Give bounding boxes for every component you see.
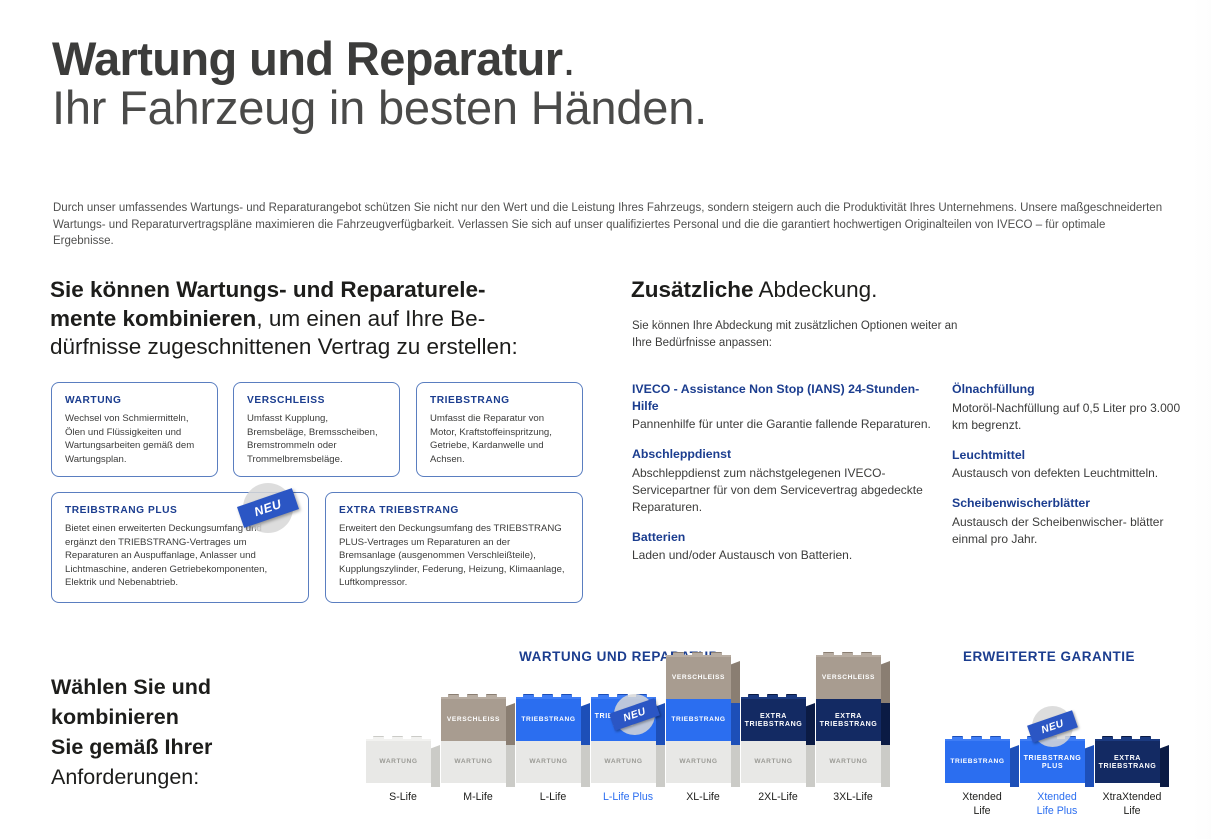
bottom-heading-2: kombinieren (51, 705, 179, 729)
battery-segment: TRIEBSTRANG (666, 699, 731, 741)
hero-block: Wartung und Reparatur. Ihr Fahrzeug in b… (52, 34, 1152, 132)
neu-badge-chart-xtendedplus: NEU (1032, 706, 1078, 752)
battery-segment: EXTRATRIEBSTRANG (741, 699, 806, 741)
battery-block[interactable]: WARTUNGEXTRATRIEBSTRANGVERSCHLEISS (816, 657, 881, 783)
battery-segment-label: WARTUNG (754, 758, 792, 767)
battery-segment-label: WARTUNG (379, 758, 417, 767)
battery-block[interactable]: TRIEBSTRANG (945, 741, 1010, 783)
battery-segment-side (656, 745, 665, 787)
coverage-option[interactable]: Scheibenwischerblätter Austausch der Sch… (952, 495, 1182, 548)
battery-segment: WARTUNG (666, 741, 731, 783)
battery-segment-side (881, 703, 890, 745)
battery-segment: VERSCHLEISS (441, 699, 506, 741)
left-column-heading: Sie können Wartungs- und Reparaturele- m… (50, 276, 610, 362)
coverage-options-column-1: IVECO - Assistance Non Stop (IANS) 24-St… (632, 381, 932, 577)
info-box-verschleiss[interactable]: VERSCHLEISS Umfasst Kupplung, Bremsbeläg… (233, 382, 400, 477)
intro-paragraph: Durch unser umfassendes Wartungs- und Re… (53, 200, 1163, 250)
battery-segment: TRIEBSTRANG (516, 699, 581, 741)
battery-segment-label: WARTUNG (679, 758, 717, 767)
page-title-dot: . (562, 32, 575, 85)
page-title-bold: Wartung und Reparatur (52, 32, 562, 85)
info-box-wartung[interactable]: WARTUNG Wechsel von Schmiermitteln, Ölen… (51, 382, 218, 477)
info-box-body: Umfasst Kupplung, Bremsbeläge, Bremssche… (247, 412, 386, 466)
battery-segment-side (881, 745, 890, 787)
battery-segment-label: WARTUNG (454, 758, 492, 767)
coverage-option-title: Leuchtmittel (952, 447, 1182, 464)
battery-segment-side (581, 703, 590, 745)
coverage-option[interactable]: Ölnachfüllung Motoröl-Nachfüllung auf 0,… (952, 381, 1182, 434)
page-subtitle: Ihr Fahrzeug in besten Händen. (52, 83, 1152, 132)
right-column-heading: Zusätzliche Abdeckung. (631, 276, 1051, 303)
coverage-option[interactable]: Leuchtmittel Austausch von defekten Leuc… (952, 447, 1182, 483)
neu-badge: NEU (243, 483, 299, 539)
coverage-option[interactable]: IVECO - Assistance Non Stop (IANS) 24-St… (632, 381, 932, 433)
coverage-option-title: Batterien (632, 529, 932, 546)
right-heading-light: Abdeckung. (754, 277, 878, 302)
battery-block-label: XtraXtendedLife (1083, 790, 1181, 818)
info-box-title: VERSCHLEISS (247, 395, 386, 406)
battery-segment-side (506, 703, 515, 745)
battery-segment-label: VERSCHLEISS (822, 674, 875, 683)
battery-segment-side (806, 703, 815, 745)
coverage-option-title: Ölnachfüllung (952, 381, 1182, 398)
right-column-subtext: Sie können Ihre Abdeckung mit zusätzlich… (632, 318, 977, 352)
battery-segment-label: TRIEBSTRANGPLUS (1024, 754, 1082, 771)
battery-segment: WARTUNG (741, 741, 806, 783)
battery-block[interactable]: WARTUNG (366, 741, 431, 783)
coverage-option[interactable]: Abschleppdienst Abschleppdienst zum näch… (632, 446, 932, 516)
info-box-triebstrang[interactable]: TRIEBSTRANG Umfasst die Reparatur von Mo… (416, 382, 583, 477)
battery-segment: VERSCHLEISS (666, 657, 731, 699)
battery-segment: WARTUNG (816, 741, 881, 783)
chart-title-wartung-reparatur: WARTUNG UND REPARATUR (404, 649, 834, 664)
bottom-heading-3: Sie gemäß Ihrer (51, 735, 212, 759)
coverage-option-title: IVECO - Assistance Non Stop (IANS) 24-St… (632, 381, 932, 414)
battery-segment-side (506, 745, 515, 787)
info-box-body: Umfasst die Reparatur von Motor, Kraftst… (430, 412, 569, 466)
info-box-body: Wechsel von Schmiermitteln, Ölen und Flü… (65, 412, 204, 466)
info-box-title: TRIEBSTRANG (430, 395, 569, 406)
coverage-option[interactable]: Batterien Laden und/oder Austausch von B… (632, 529, 932, 565)
battery-segment-side (581, 745, 590, 787)
battery-segment: VERSCHLEISS (816, 657, 881, 699)
info-box-title: EXTRA TRIEBSTRANG (339, 505, 569, 516)
info-box-body: Erweitert den Deckungsumfang des TRIEBST… (339, 522, 569, 590)
battery-segment-label: VERSCHLEISS (672, 674, 725, 683)
battery-segment-label: EXTRATRIEBSTRANG (1099, 754, 1157, 771)
right-heading-bold: Zusätzliche (631, 277, 754, 302)
poster-page: Wartung und Reparatur. Ihr Fahrzeug in b… (0, 0, 1211, 839)
coverage-option-desc: Motoröl-Nachfüllung auf 0,5 Liter pro 3.… (952, 400, 1182, 434)
left-heading-light-1: , um einen auf Ihre Be- (256, 306, 485, 331)
battery-segment-side (806, 745, 815, 787)
battery-segment-label: EXTRATRIEBSTRANG (745, 712, 803, 729)
coverage-option-title: Scheibenwischerblätter (952, 495, 1182, 512)
battery-segment-label: WARTUNG (529, 758, 567, 767)
battery-block[interactable]: WARTUNGTRIEBSTRANG (516, 699, 581, 783)
coverage-option-desc: Laden und/oder Austausch von Batterien. (632, 547, 932, 564)
bottom-heading: Wählen Sie und kombinieren Sie gemäß Ihr… (51, 672, 351, 792)
coverage-option-desc: Austausch von defekten Leuchtmitteln. (952, 465, 1182, 482)
info-box-extra-triebstrang[interactable]: EXTRA TRIEBSTRANG Erweitert den Deckungs… (325, 492, 583, 603)
battery-segment-side (1010, 745, 1019, 787)
battery-block[interactable]: WARTUNGVERSCHLEISS (441, 699, 506, 783)
battery-segment: EXTRATRIEBSTRANG (816, 699, 881, 741)
battery-block[interactable]: EXTRATRIEBSTRANG (1095, 741, 1160, 783)
battery-segment: WARTUNG (591, 741, 656, 783)
battery-segment: WARTUNG (441, 741, 506, 783)
page-title: Wartung und Reparatur. Ihr Fahrzeug in b… (52, 34, 1152, 132)
neu-badge-label: NEU (252, 497, 283, 519)
bottom-heading-1: Wählen Sie und (51, 675, 211, 699)
battery-segment-label: EXTRATRIEBSTRANG (820, 712, 878, 729)
battery-segment-side (731, 661, 740, 703)
battery-segment-label: TRIEBSTRANG (521, 716, 575, 725)
right-edge-fade (1193, 0, 1211, 839)
battery-block-label: 3XL-Life (804, 790, 902, 804)
info-box-title: WARTUNG (65, 395, 204, 406)
battery-segment-side (881, 661, 890, 703)
battery-segment: EXTRATRIEBSTRANG (1095, 741, 1160, 783)
battery-segment-side (1160, 745, 1169, 787)
bottom-heading-4: Anforderungen: (51, 765, 199, 789)
battery-block[interactable]: WARTUNGEXTRATRIEBSTRANG (741, 699, 806, 783)
neu-badge-label: NEU (1040, 717, 1066, 735)
neu-badge-label: NEU (622, 705, 648, 723)
coverage-options-column-2: Ölnachfüllung Motoröl-Nachfüllung auf 0,… (952, 381, 1182, 561)
coverage-option-title: Abschleppdienst (632, 446, 932, 463)
battery-segment: WARTUNG (366, 741, 431, 783)
battery-segment-side (431, 745, 440, 787)
battery-segment: TRIEBSTRANG (945, 741, 1010, 783)
neu-badge-chart-llifeplus: NEU (614, 694, 660, 740)
battery-block[interactable]: WARTUNGTRIEBSTRANGVERSCHLEISS (666, 657, 731, 783)
coverage-option-desc: Pannenhilfe für unter die Garantie falle… (632, 416, 932, 433)
battery-segment-label: WARTUNG (829, 758, 867, 767)
battery-segment-side (1085, 745, 1094, 787)
chart-title-erweiterte-garantie: ERWEITERTE GARANTIE (930, 649, 1168, 664)
left-heading-bold-2: mente kombinieren (50, 306, 256, 331)
battery-segment-label: TRIEBSTRANG (671, 716, 725, 725)
battery-segment-side (731, 703, 740, 745)
coverage-option-desc: Abschleppdienst zum nächstgelegenen IVEC… (632, 465, 932, 516)
coverage-option-desc: Austausch der Scheibenwischer- blätter e… (952, 514, 1182, 548)
left-heading-bold-1: Sie können Wartungs- und Reparaturele- (50, 277, 485, 302)
battery-segment-side (731, 745, 740, 787)
battery-segment-label: WARTUNG (604, 758, 642, 767)
battery-segment-label: VERSCHLEISS (447, 716, 500, 725)
battery-segment: WARTUNG (516, 741, 581, 783)
battery-segment-label: TRIEBSTRANG (950, 758, 1004, 767)
left-heading-light-2: dürfnisse zugeschnittenen Vertrag zu ers… (50, 334, 518, 359)
